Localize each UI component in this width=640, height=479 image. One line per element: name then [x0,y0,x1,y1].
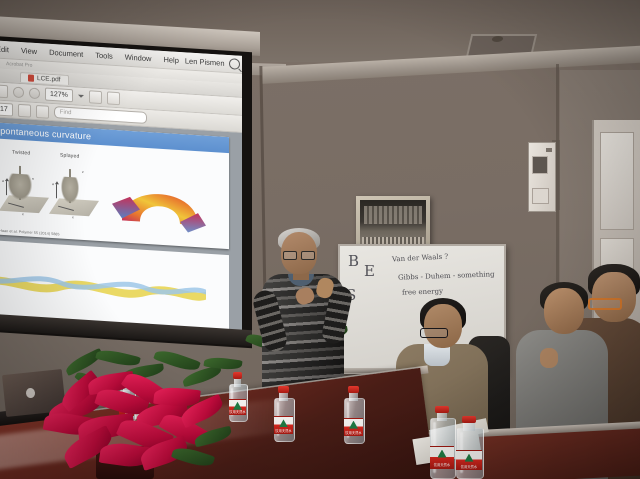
bottle-cap [435,406,448,413]
menu-item-document[interactable]: Document [43,47,89,59]
control-panel-window [532,156,548,174]
whiteboard-mark-b: B [348,252,359,270]
mountain-logo-icon [349,421,358,429]
print-icon[interactable] [107,91,120,105]
user-label: Len Pismen [185,56,229,68]
slide-spontaneous-curvature: Spontaneous curvature Twisted Splayed n … [0,122,229,249]
menu-item-edit[interactable]: Edit [0,44,15,55]
poinsettia-plant [44,368,236,479]
tools-icon[interactable] [36,104,49,118]
water-bottle[interactable]: 饮用天然水 [430,406,454,479]
control-panel-led-icon [546,148,552,152]
page-number-value[interactable]: 17 [0,102,13,116]
whiteboard-mark-e: E [364,262,375,280]
bottle-label: 饮用天然水 [430,446,454,469]
projector-screen: Edit View Document Tools Window Help Len… [0,40,242,334]
pdf-tab-filename: LCE.pdf [37,75,61,83]
water-bottle[interactable]: 饮用天然水 [274,386,293,442]
orange-glasses-icon [588,298,622,310]
water-bottle[interactable]: 饮用天然水 [456,416,482,479]
whiteboard-line-1: Van der Waals ? [392,253,449,265]
bottle-label-text: 饮用天然水 [430,462,454,467]
slide-citation: de Haan et al. Polymer 55 (2014) 5885 [0,228,60,236]
figure-twisted-diagram: n a x [2,163,46,218]
bottle-label: 饮用天然水 [344,418,363,436]
save-icon[interactable] [0,84,8,98]
water-bottle[interactable]: 饮用天然水 [344,386,363,444]
figure-label-splayed: Splayed [60,152,79,159]
figure-label-twisted: Twisted [12,149,30,156]
mountain-logo-icon [465,454,474,462]
slide-body: Twisted Splayed n a x z a x [0,138,229,249]
meeting-room-photo: Edit View Document Tools Window Help Len… [0,0,640,479]
bottle-cap [462,416,477,423]
snapshot-icon[interactable] [89,90,102,104]
figure-splayed-diagram: z a x [52,166,96,221]
bottle-label-text: 饮用天然水 [456,464,482,469]
bottle-label-text: 饮用天然水 [274,428,293,433]
axis-label-a: a [2,179,4,183]
zoom-level-value[interactable]: 127% [45,88,73,103]
door-glass-upper [600,132,634,230]
control-panel-lower-hatch [532,188,549,204]
twisted-ribbon-graphic [0,265,206,305]
bottle-label: 饮用天然水 [274,416,293,434]
menu-item-view[interactable]: View [15,46,43,57]
eyeglasses-icon [420,328,448,338]
pdf-page-canvas: Spontaneous curvature Twisted Splayed n … [0,117,242,334]
mountain-logo-icon [438,450,447,458]
mountain-logo-icon [279,419,288,427]
pdf-file-icon [28,74,34,81]
highlight-icon[interactable] [18,103,31,117]
bottle-label-text: 饮用天然水 [344,430,363,435]
zoom-out-icon[interactable] [13,87,24,99]
menu-item-tools[interactable]: Tools [89,50,119,61]
menu-item-window[interactable]: Window [119,52,158,63]
bottle-cap [348,386,359,393]
bottle-label: 饮用天然水 [456,450,482,470]
menu-item-help[interactable]: Help [157,55,184,66]
whiteboard-line-3: free energy [402,287,443,297]
zoom-in-icon[interactable] [29,88,40,100]
axis-label-x-2: x [72,215,74,219]
speaker-eyeglasses-icon [283,251,315,258]
axis-label-n: n [32,177,34,181]
search-icon[interactable] [229,58,240,70]
chevron-down-icon[interactable] [78,95,84,98]
curved-ribbon-figure [108,173,212,236]
bottle-cap [278,386,289,393]
pdf-document-tab[interactable]: LCE.pdf [20,71,69,84]
whiteboard-line-2: Gibbs - Duhem - something [398,270,495,282]
axis-label-a-2: a [52,182,54,186]
axis-label-x: x [22,212,24,216]
axis-label-z: z [82,170,84,174]
